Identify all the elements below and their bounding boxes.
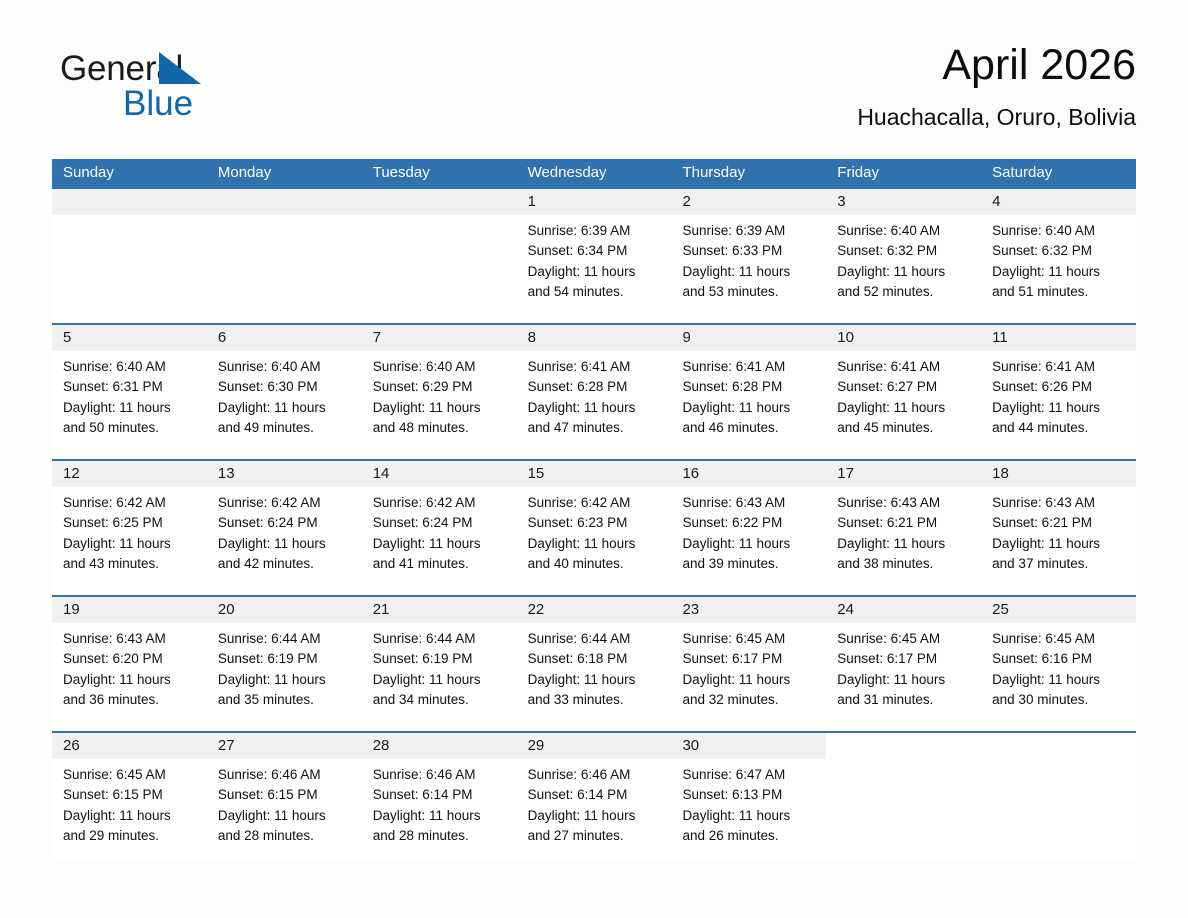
daylight-text-line2: and 54 minutes.: [528, 282, 662, 302]
day-number: 19: [52, 597, 207, 623]
daylight-text-line1: Daylight: 11 hours: [373, 670, 507, 690]
day-cell[interactable]: 15 Sunrise: 6:42 AM Sunset: 6:23 PM Dayl…: [517, 461, 672, 595]
daylight-text-line1: Daylight: 11 hours: [682, 534, 816, 554]
daylight-text-line2: and 28 minutes.: [218, 826, 352, 846]
daylight-text-line1: Daylight: 11 hours: [218, 398, 352, 418]
sunset-text: Sunset: 6:19 PM: [218, 649, 352, 669]
calendar-page: General Blue April 2026 Huachacalla, Oru…: [0, 0, 1188, 918]
day-cell[interactable]: 20 Sunrise: 6:44 AM Sunset: 6:19 PM Dayl…: [207, 597, 362, 731]
sunrise-text: Sunrise: 6:43 AM: [992, 493, 1126, 513]
day-cell[interactable]: 26 Sunrise: 6:45 AM Sunset: 6:15 PM Dayl…: [52, 733, 207, 859]
daylight-text-line2: and 52 minutes.: [837, 282, 971, 302]
location-subtitle: Huachacalla, Oruro, Bolivia: [857, 104, 1136, 131]
daylight-text-line2: and 50 minutes.: [63, 418, 197, 438]
daylight-text-line1: Daylight: 11 hours: [63, 670, 197, 690]
day-number: 3: [826, 189, 981, 215]
day-number: 28: [362, 733, 517, 759]
day-number: 26: [52, 733, 207, 759]
sunset-text: Sunset: 6:14 PM: [528, 785, 662, 805]
daylight-text-line1: Daylight: 11 hours: [63, 398, 197, 418]
day-cell[interactable]: 29 Sunrise: 6:46 AM Sunset: 6:14 PM Dayl…: [517, 733, 672, 859]
daylight-text-line2: and 26 minutes.: [682, 826, 816, 846]
sunrise-text: Sunrise: 6:45 AM: [837, 629, 971, 649]
day-number: 21: [362, 597, 517, 623]
day-number: 29: [517, 733, 672, 759]
day-cell[interactable]: 21 Sunrise: 6:44 AM Sunset: 6:19 PM Dayl…: [362, 597, 517, 731]
sunrise-text: Sunrise: 6:43 AM: [63, 629, 197, 649]
sunset-text: Sunset: 6:34 PM: [528, 241, 662, 261]
daylight-text-line1: Daylight: 11 hours: [682, 806, 816, 826]
sunrise-text: Sunrise: 6:45 AM: [63, 765, 197, 785]
sunrise-text: Sunrise: 6:46 AM: [373, 765, 507, 785]
day-cell[interactable]: 25 Sunrise: 6:45 AM Sunset: 6:16 PM Dayl…: [981, 597, 1136, 731]
day-cell[interactable]: 27 Sunrise: 6:46 AM Sunset: 6:15 PM Dayl…: [207, 733, 362, 859]
page-header: General Blue April 2026 Huachacalla, Oru…: [52, 40, 1136, 150]
day-number: 10: [826, 325, 981, 351]
sunset-text: Sunset: 6:18 PM: [528, 649, 662, 669]
daylight-text-line2: and 49 minutes.: [218, 418, 352, 438]
day-number: 27: [207, 733, 362, 759]
day-cell[interactable]: 11 Sunrise: 6:41 AM Sunset: 6:26 PM Dayl…: [981, 325, 1136, 459]
sunset-text: Sunset: 6:16 PM: [992, 649, 1126, 669]
daylight-text-line2: and 39 minutes.: [682, 554, 816, 574]
sunrise-text: Sunrise: 6:41 AM: [837, 357, 971, 377]
weekday-saturday: Saturday: [981, 159, 1136, 187]
daylight-text-line1: Daylight: 11 hours: [528, 670, 662, 690]
day-cell[interactable]: 5 Sunrise: 6:40 AM Sunset: 6:31 PM Dayli…: [52, 325, 207, 459]
sunrise-text: Sunrise: 6:42 AM: [63, 493, 197, 513]
day-number: 7: [362, 325, 517, 351]
day-cell[interactable]: [52, 189, 207, 323]
sunrise-text: Sunrise: 6:40 AM: [373, 357, 507, 377]
day-number: 5: [52, 325, 207, 351]
day-cell[interactable]: 22 Sunrise: 6:44 AM Sunset: 6:18 PM Dayl…: [517, 597, 672, 731]
day-cell[interactable]: 9 Sunrise: 6:41 AM Sunset: 6:28 PM Dayli…: [671, 325, 826, 459]
day-number: 22: [517, 597, 672, 623]
sunset-text: Sunset: 6:29 PM: [373, 377, 507, 397]
sunset-text: Sunset: 6:20 PM: [63, 649, 197, 669]
daylight-text-line2: and 32 minutes.: [682, 690, 816, 710]
daylight-text-line1: Daylight: 11 hours: [992, 670, 1126, 690]
sunrise-text: Sunrise: 6:41 AM: [682, 357, 816, 377]
daylight-text-line1: Daylight: 11 hours: [373, 534, 507, 554]
day-cell[interactable]: 23 Sunrise: 6:45 AM Sunset: 6:17 PM Dayl…: [671, 597, 826, 731]
daylight-text-line2: and 46 minutes.: [682, 418, 816, 438]
sunrise-text: Sunrise: 6:41 AM: [992, 357, 1126, 377]
daylight-text-line2: and 28 minutes.: [373, 826, 507, 846]
sunrise-text: Sunrise: 6:42 AM: [528, 493, 662, 513]
sunrise-text: Sunrise: 6:40 AM: [63, 357, 197, 377]
weekday-tuesday: Tuesday: [362, 159, 517, 187]
daylight-text-line1: Daylight: 11 hours: [528, 806, 662, 826]
daylight-text-line1: Daylight: 11 hours: [528, 262, 662, 282]
daylight-text-line1: Daylight: 11 hours: [837, 670, 971, 690]
generalblue-logo[interactable]: General Blue: [60, 50, 300, 134]
day-number: 4: [981, 189, 1136, 215]
day-cell[interactable]: [826, 733, 981, 859]
sunrise-text: Sunrise: 6:42 AM: [218, 493, 352, 513]
day-number: 15: [517, 461, 672, 487]
day-cell[interactable]: 10 Sunrise: 6:41 AM Sunset: 6:27 PM Dayl…: [826, 325, 981, 459]
daylight-text-line2: and 30 minutes.: [992, 690, 1126, 710]
daylight-text-line1: Daylight: 11 hours: [218, 806, 352, 826]
daylight-text-line1: Daylight: 11 hours: [63, 806, 197, 826]
daylight-text-line2: and 41 minutes.: [373, 554, 507, 574]
sunrise-text: Sunrise: 6:46 AM: [218, 765, 352, 785]
daylight-text-line1: Daylight: 11 hours: [373, 398, 507, 418]
sunrise-text: Sunrise: 6:46 AM: [528, 765, 662, 785]
sunset-text: Sunset: 6:21 PM: [992, 513, 1126, 533]
daylight-text-line1: Daylight: 11 hours: [218, 670, 352, 690]
day-cell[interactable]: 3 Sunrise: 6:40 AM Sunset: 6:32 PM Dayli…: [826, 189, 981, 323]
day-number: 23: [671, 597, 826, 623]
day-cell[interactable]: 18 Sunrise: 6:43 AM Sunset: 6:21 PM Dayl…: [981, 461, 1136, 595]
sunset-text: Sunset: 6:26 PM: [992, 377, 1126, 397]
calendar-week-row: 26 Sunrise: 6:45 AM Sunset: 6:15 PM Dayl…: [52, 731, 1136, 859]
daylight-text-line2: and 33 minutes.: [528, 690, 662, 710]
weekday-friday: Friday: [826, 159, 981, 187]
daylight-text-line2: and 38 minutes.: [837, 554, 971, 574]
day-cell[interactable]: 2 Sunrise: 6:39 AM Sunset: 6:33 PM Dayli…: [671, 189, 826, 323]
sunset-text: Sunset: 6:14 PM: [373, 785, 507, 805]
day-cell[interactable]: [362, 189, 517, 323]
sunset-text: Sunset: 6:31 PM: [63, 377, 197, 397]
daylight-text-line1: Daylight: 11 hours: [682, 398, 816, 418]
sunset-text: Sunset: 6:15 PM: [63, 785, 197, 805]
day-cell[interactable]: 14 Sunrise: 6:42 AM Sunset: 6:24 PM Dayl…: [362, 461, 517, 595]
sunrise-text: Sunrise: 6:40 AM: [218, 357, 352, 377]
day-number: 9: [671, 325, 826, 351]
day-number: 6: [207, 325, 362, 351]
daylight-text-line1: Daylight: 11 hours: [528, 398, 662, 418]
day-number: 20: [207, 597, 362, 623]
day-number: 13: [207, 461, 362, 487]
daylight-text-line2: and 31 minutes.: [837, 690, 971, 710]
daylight-text-line2: and 45 minutes.: [837, 418, 971, 438]
day-cell[interactable]: 13 Sunrise: 6:42 AM Sunset: 6:24 PM Dayl…: [207, 461, 362, 595]
logo-word-blue: Blue: [123, 85, 300, 123]
sunrise-text: Sunrise: 6:44 AM: [218, 629, 352, 649]
daylight-text-line2: and 44 minutes.: [992, 418, 1126, 438]
day-cell[interactable]: 4 Sunrise: 6:40 AM Sunset: 6:32 PM Dayli…: [981, 189, 1136, 323]
day-number: 16: [671, 461, 826, 487]
sunset-text: Sunset: 6:21 PM: [837, 513, 971, 533]
sunrise-text: Sunrise: 6:43 AM: [837, 493, 971, 513]
day-cell[interactable]: 28 Sunrise: 6:46 AM Sunset: 6:14 PM Dayl…: [362, 733, 517, 859]
weekday-header-row: Sunday Monday Tuesday Wednesday Thursday…: [52, 159, 1136, 187]
daylight-text-line1: Daylight: 11 hours: [992, 262, 1126, 282]
daylight-text-line2: and 51 minutes.: [992, 282, 1126, 302]
day-cell[interactable]: 24 Sunrise: 6:45 AM Sunset: 6:17 PM Dayl…: [826, 597, 981, 731]
sunrise-text: Sunrise: 6:39 AM: [528, 221, 662, 241]
daylight-text-line1: Daylight: 11 hours: [837, 398, 971, 418]
sunrise-text: Sunrise: 6:39 AM: [682, 221, 816, 241]
day-number: 25: [981, 597, 1136, 623]
sunset-text: Sunset: 6:22 PM: [682, 513, 816, 533]
sunset-text: Sunset: 6:24 PM: [373, 513, 507, 533]
weekday-monday: Monday: [207, 159, 362, 187]
day-number: 18: [981, 461, 1136, 487]
sunset-text: Sunset: 6:25 PM: [63, 513, 197, 533]
day-cell[interactable]: 1 Sunrise: 6:39 AM Sunset: 6:34 PM Dayli…: [517, 189, 672, 323]
sunrise-text: Sunrise: 6:44 AM: [528, 629, 662, 649]
day-cell[interactable]: 7 Sunrise: 6:40 AM Sunset: 6:29 PM Dayli…: [362, 325, 517, 459]
sunset-text: Sunset: 6:17 PM: [837, 649, 971, 669]
daylight-text-line1: Daylight: 11 hours: [837, 262, 971, 282]
calendar-week-row: 5 Sunrise: 6:40 AM Sunset: 6:31 PM Dayli…: [52, 323, 1136, 459]
sunrise-text: Sunrise: 6:47 AM: [682, 765, 816, 785]
weekday-sunday: Sunday: [52, 159, 207, 187]
day-cell[interactable]: 30 Sunrise: 6:47 AM Sunset: 6:13 PM Dayl…: [671, 733, 826, 859]
daylight-text-line2: and 40 minutes.: [528, 554, 662, 574]
day-cell[interactable]: 12 Sunrise: 6:42 AM Sunset: 6:25 PM Dayl…: [52, 461, 207, 595]
daylight-text-line2: and 34 minutes.: [373, 690, 507, 710]
sunrise-text: Sunrise: 6:43 AM: [682, 493, 816, 513]
sunset-text: Sunset: 6:30 PM: [218, 377, 352, 397]
daylight-text-line2: and 43 minutes.: [63, 554, 197, 574]
weekday-wednesday: Wednesday: [517, 159, 672, 187]
page-title: April 2026: [857, 40, 1136, 90]
day-number: 24: [826, 597, 981, 623]
sunrise-text: Sunrise: 6:44 AM: [373, 629, 507, 649]
logo-triangle-icon: [159, 52, 201, 84]
sunrise-text: Sunrise: 6:41 AM: [528, 357, 662, 377]
day-cell[interactable]: [981, 733, 1136, 859]
sunrise-text: Sunrise: 6:45 AM: [992, 629, 1126, 649]
daylight-text-line2: and 29 minutes.: [63, 826, 197, 846]
calendar-week-row: 12 Sunrise: 6:42 AM Sunset: 6:25 PM Dayl…: [52, 459, 1136, 595]
day-number: 12: [52, 461, 207, 487]
daylight-text-line1: Daylight: 11 hours: [682, 670, 816, 690]
daylight-text-line2: and 35 minutes.: [218, 690, 352, 710]
day-number: 17: [826, 461, 981, 487]
daylight-text-line1: Daylight: 11 hours: [992, 534, 1126, 554]
day-number: 8: [517, 325, 672, 351]
daylight-text-line2: and 47 minutes.: [528, 418, 662, 438]
daylight-text-line1: Daylight: 11 hours: [528, 534, 662, 554]
daylight-text-line1: Daylight: 11 hours: [837, 534, 971, 554]
sunset-text: Sunset: 6:19 PM: [373, 649, 507, 669]
logo-text-general: General: [60, 50, 300, 88]
day-number: 14: [362, 461, 517, 487]
daylight-text-line2: and 42 minutes.: [218, 554, 352, 574]
sunset-text: Sunset: 6:23 PM: [528, 513, 662, 533]
sunrise-text: Sunrise: 6:40 AM: [992, 221, 1126, 241]
day-number: 11: [981, 325, 1136, 351]
daylight-text-line1: Daylight: 11 hours: [218, 534, 352, 554]
sunset-text: Sunset: 6:24 PM: [218, 513, 352, 533]
sunset-text: Sunset: 6:28 PM: [682, 377, 816, 397]
daylight-text-line2: and 37 minutes.: [992, 554, 1126, 574]
day-cell[interactable]: 6 Sunrise: 6:40 AM Sunset: 6:30 PM Dayli…: [207, 325, 362, 459]
daylight-text-line2: and 48 minutes.: [373, 418, 507, 438]
day-cell[interactable]: 8 Sunrise: 6:41 AM Sunset: 6:28 PM Dayli…: [517, 325, 672, 459]
day-number: 2: [671, 189, 826, 215]
daylight-text-line2: and 36 minutes.: [63, 690, 197, 710]
calendar-week-row: 19 Sunrise: 6:43 AM Sunset: 6:20 PM Dayl…: [52, 595, 1136, 731]
daylight-text-line2: and 53 minutes.: [682, 282, 816, 302]
day-cell[interactable]: 17 Sunrise: 6:43 AM Sunset: 6:21 PM Dayl…: [826, 461, 981, 595]
sunrise-text: Sunrise: 6:42 AM: [373, 493, 507, 513]
sunrise-text: Sunrise: 6:45 AM: [682, 629, 816, 649]
weekday-thursday: Thursday: [671, 159, 826, 187]
sunset-text: Sunset: 6:15 PM: [218, 785, 352, 805]
daylight-text-line1: Daylight: 11 hours: [992, 398, 1126, 418]
daylight-text-line2: and 27 minutes.: [528, 826, 662, 846]
day-number: 1: [517, 189, 672, 215]
title-block: April 2026 Huachacalla, Oruro, Bolivia: [857, 40, 1136, 131]
calendar-week-row: 1 Sunrise: 6:39 AM Sunset: 6:34 PM Dayli…: [52, 187, 1136, 323]
day-number: 30: [671, 733, 826, 759]
sunset-text: Sunset: 6:13 PM: [682, 785, 816, 805]
sunrise-text: Sunrise: 6:40 AM: [837, 221, 971, 241]
sunset-text: Sunset: 6:33 PM: [682, 241, 816, 261]
sunset-text: Sunset: 6:28 PM: [528, 377, 662, 397]
sunset-text: Sunset: 6:17 PM: [682, 649, 816, 669]
calendar-table: Sunday Monday Tuesday Wednesday Thursday…: [52, 159, 1136, 859]
sunset-text: Sunset: 6:27 PM: [837, 377, 971, 397]
daylight-text-line1: Daylight: 11 hours: [682, 262, 816, 282]
day-cell[interactable]: 16 Sunrise: 6:43 AM Sunset: 6:22 PM Dayl…: [671, 461, 826, 595]
sunset-text: Sunset: 6:32 PM: [992, 241, 1126, 261]
sunset-text: Sunset: 6:32 PM: [837, 241, 971, 261]
daylight-text-line1: Daylight: 11 hours: [373, 806, 507, 826]
daylight-text-line1: Daylight: 11 hours: [63, 534, 197, 554]
day-cell[interactable]: 19 Sunrise: 6:43 AM Sunset: 6:20 PM Dayl…: [52, 597, 207, 731]
day-cell[interactable]: [207, 189, 362, 323]
